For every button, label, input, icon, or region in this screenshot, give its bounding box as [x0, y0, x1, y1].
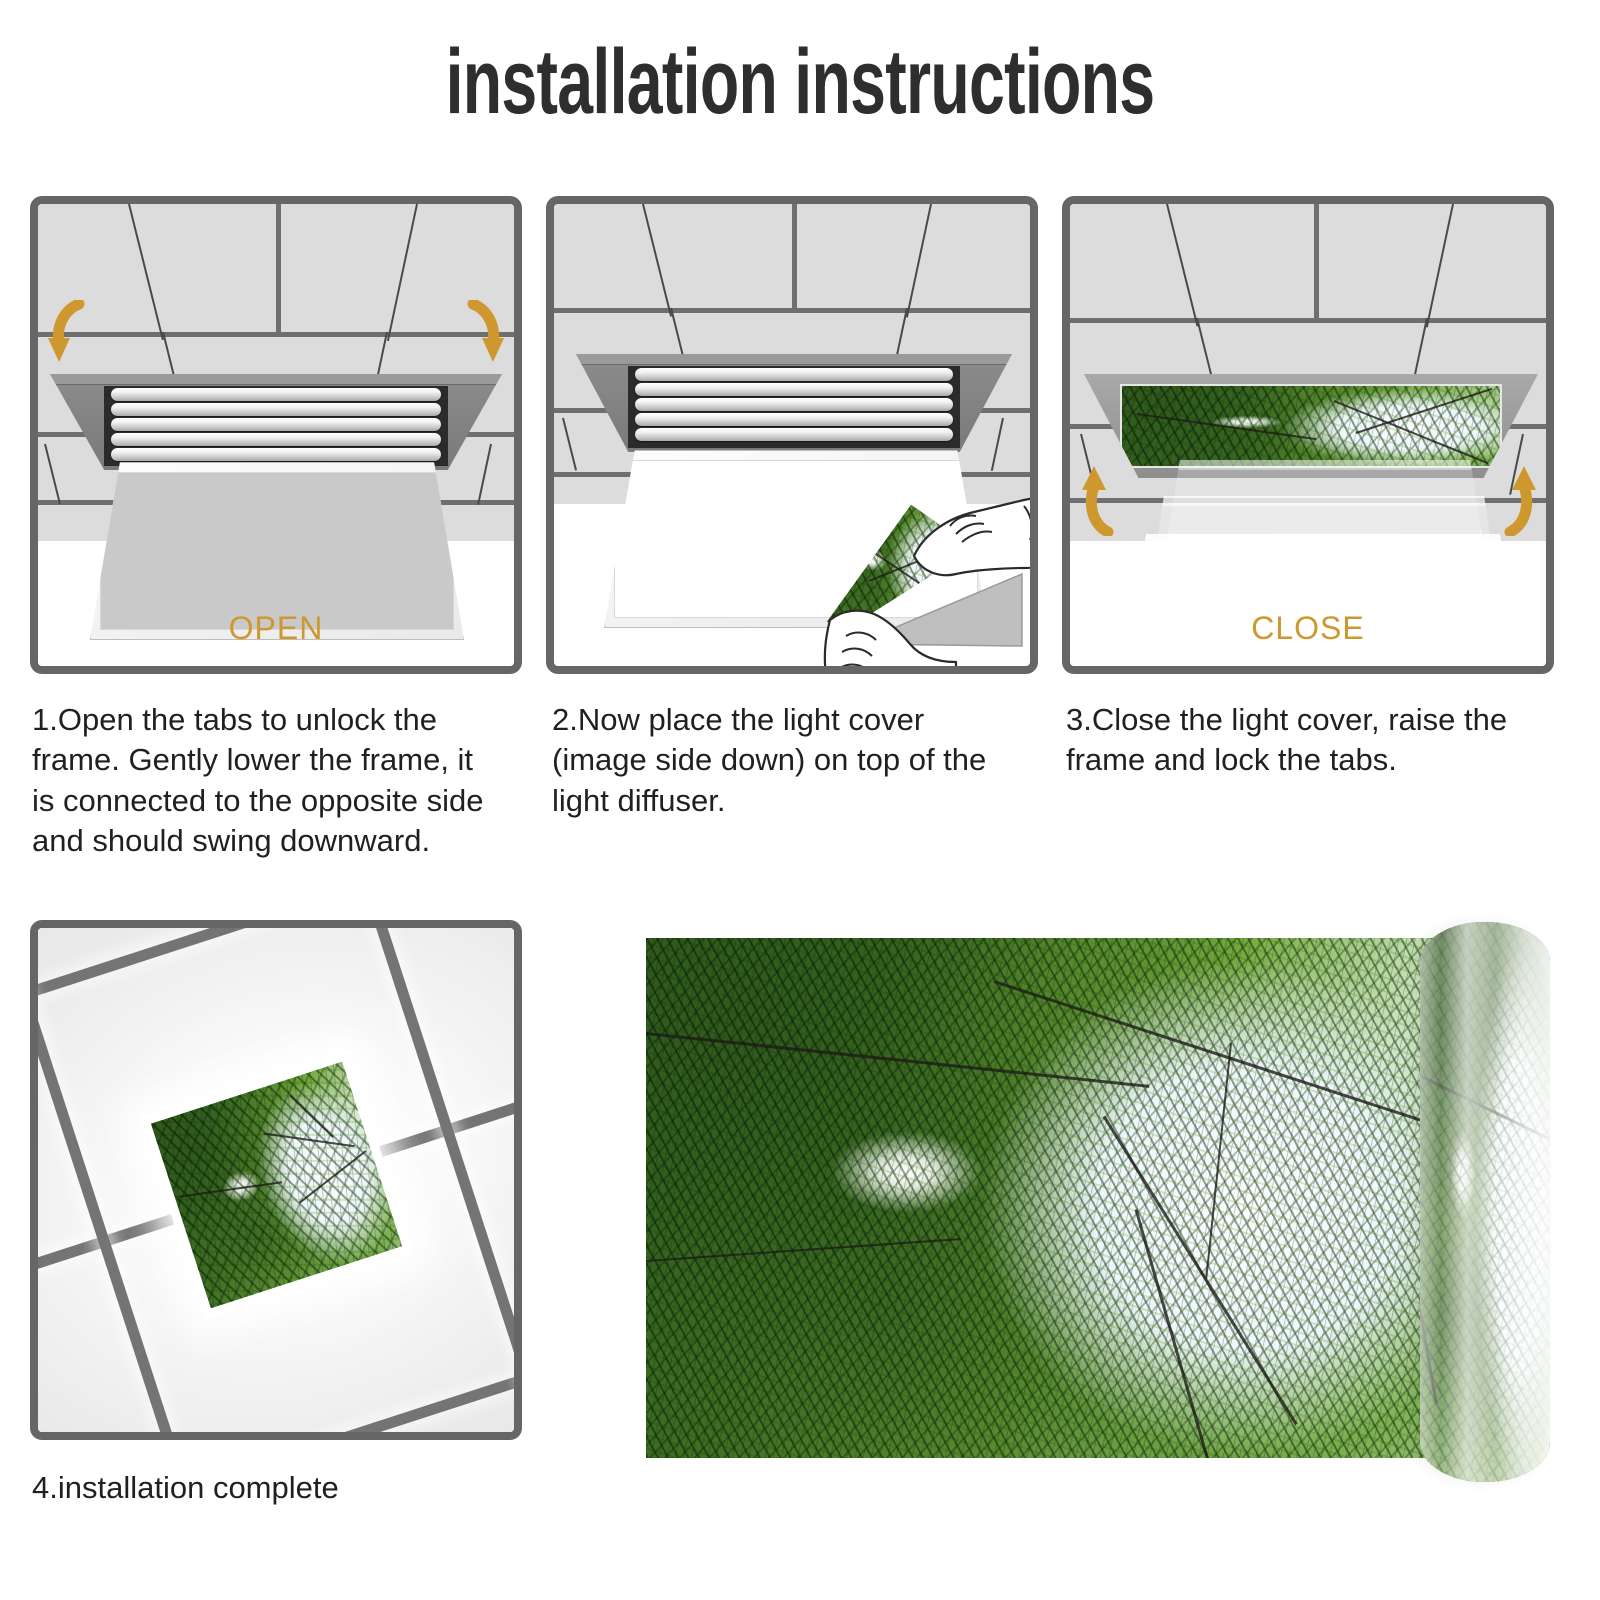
ceiling-rail-vertical	[276, 204, 281, 332]
branch	[1333, 400, 1488, 464]
step-1-scene: OPEN	[38, 204, 514, 666]
louver-slat	[635, 428, 953, 441]
ceiling-rail	[554, 308, 1030, 313]
fixture-face	[50, 374, 502, 385]
step-3-illustration-panel: CLOSE	[1062, 196, 1554, 674]
hand-icon	[904, 482, 1030, 602]
step-3-scene: CLOSE	[1070, 204, 1546, 666]
louver-slat	[111, 418, 441, 431]
branch	[263, 1132, 355, 1147]
ceiling-rail	[1070, 318, 1546, 323]
light-fixture	[576, 354, 1012, 452]
branch	[1356, 388, 1493, 434]
step-2-scene	[554, 204, 1030, 666]
ceiling-perspective-line	[1166, 204, 1198, 326]
ceiling-rail	[38, 928, 514, 1077]
louver-slat	[111, 388, 441, 401]
ceiling-perspective-line	[387, 204, 418, 341]
ceiling-rail-vertical	[792, 204, 797, 308]
curved-arrow-up-icon	[1078, 456, 1124, 536]
ceiling-rail-vertical	[1314, 204, 1319, 318]
louver-slat	[635, 383, 953, 396]
curved-arrow-down-icon	[46, 300, 92, 378]
louver-assembly	[104, 386, 448, 466]
ceiling-perspective-line	[642, 204, 672, 317]
film-gloss-overlay	[1420, 922, 1550, 1482]
louver-slat	[111, 403, 441, 416]
branch	[1137, 413, 1317, 440]
step-4-scene	[38, 928, 514, 1432]
branch	[1134, 1209, 1233, 1458]
infographic-page: installation instructions	[0, 0, 1600, 1600]
ceiling-perspective-line	[562, 418, 577, 471]
ceiling-perspective-line	[1426, 204, 1454, 327]
step-1-illustration-panel: OPEN	[30, 196, 522, 674]
branch	[178, 1182, 282, 1199]
product-nature-photo	[646, 938, 1436, 1458]
louver-slat	[111, 448, 441, 461]
step-4-illustration-panel	[30, 920, 522, 1440]
ceiling-rail	[38, 1294, 514, 1432]
curved-arrow-down-icon	[460, 300, 506, 378]
louver-slat	[111, 433, 441, 446]
ceiling-perspective-line	[991, 418, 1004, 471]
ceiling-perspective-line	[128, 204, 164, 340]
ceiling-perspective-line	[44, 444, 61, 505]
step-2-illustration-panel	[546, 196, 1038, 674]
branch	[646, 1032, 1149, 1088]
light-fixture	[50, 374, 502, 470]
branch	[289, 1095, 334, 1138]
nature-image	[1120, 384, 1501, 468]
ceiling-rail	[38, 332, 514, 337]
bamboo-forest-image	[646, 938, 1436, 1458]
step-4-caption: 4.installation complete	[32, 1468, 532, 1508]
louver-assembly	[628, 366, 959, 448]
step-1-panel-label: OPEN	[38, 610, 514, 647]
branch	[993, 980, 1430, 1124]
step-1-caption: 1.Open the tabs to unlock the frame. Gen…	[32, 700, 532, 861]
ceiling-perspective-line	[906, 204, 932, 318]
step-2-caption: 2.Now place the light cover (image side …	[552, 700, 1032, 821]
step-3-panel-label: CLOSE	[1070, 610, 1546, 647]
louver-slat	[635, 398, 953, 411]
curved-arrow-up-icon	[1494, 456, 1540, 536]
ceiling-perspective-line	[477, 444, 492, 505]
branch	[298, 1150, 366, 1204]
louver-slat	[635, 413, 953, 426]
fixture-face	[576, 354, 1012, 365]
frame-inner-diffuser	[100, 472, 454, 630]
louver-slat	[635, 368, 953, 381]
hand-icon	[816, 596, 966, 666]
branch	[1103, 1116, 1298, 1426]
page-title: installation instructions	[240, 36, 1360, 128]
branch	[646, 1238, 961, 1262]
step-3-caption: 3.Close the light cover, raise the frame…	[1066, 700, 1576, 781]
branch	[1205, 1043, 1232, 1279]
rolled-film-edge	[1420, 922, 1550, 1482]
